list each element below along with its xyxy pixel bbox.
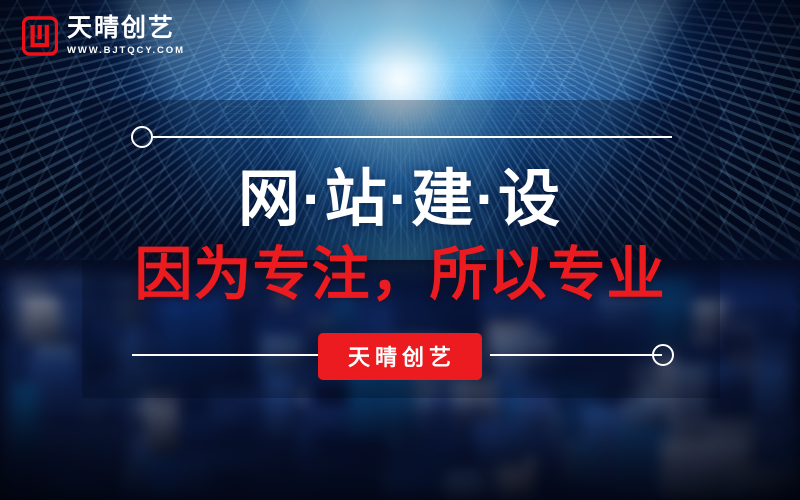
- city-block: [211, 453, 299, 477]
- promo-banner: 天晴创艺 WWW.BJTQCY.COM 网·站·建·设 因为专注，所以专业 天晴…: [0, 0, 800, 500]
- city-block: [53, 378, 120, 429]
- divider-line-top: [152, 136, 672, 138]
- city-block: [492, 335, 556, 364]
- city-block: [265, 374, 293, 444]
- brand-name: 天晴创艺: [67, 15, 185, 42]
- city-block: [570, 435, 598, 490]
- brand-logo-text: 天晴创艺 WWW.BJTQCY.COM: [67, 15, 185, 56]
- brand-website: WWW.BJTQCY.COM: [67, 45, 185, 56]
- city-block: [727, 479, 746, 500]
- circle-marker-top-left: [131, 126, 153, 148]
- city-block: [668, 364, 706, 451]
- city-block: [790, 329, 800, 414]
- city-block: [12, 384, 39, 458]
- brand-logo[interactable]: 天晴创艺 WWW.BJTQCY.COM: [22, 15, 185, 56]
- city-block: [147, 458, 179, 500]
- tianqing-chuangyi-logo-icon: [22, 16, 58, 56]
- city-block: [51, 475, 91, 500]
- city-block: [661, 440, 732, 500]
- city-block: [550, 331, 638, 403]
- brand-badge[interactable]: 天晴创艺: [318, 333, 482, 380]
- circle-marker-bottom-right: [652, 344, 674, 366]
- page-subtitle: 因为专注，所以专业: [0, 240, 800, 310]
- divider-line-bottom-left: [132, 354, 328, 356]
- city-block: [475, 422, 528, 469]
- city-block: [299, 474, 382, 500]
- page-title: 网·站·建·设: [0, 163, 800, 237]
- divider-line-bottom-right: [490, 354, 662, 356]
- city-block: [739, 468, 800, 491]
